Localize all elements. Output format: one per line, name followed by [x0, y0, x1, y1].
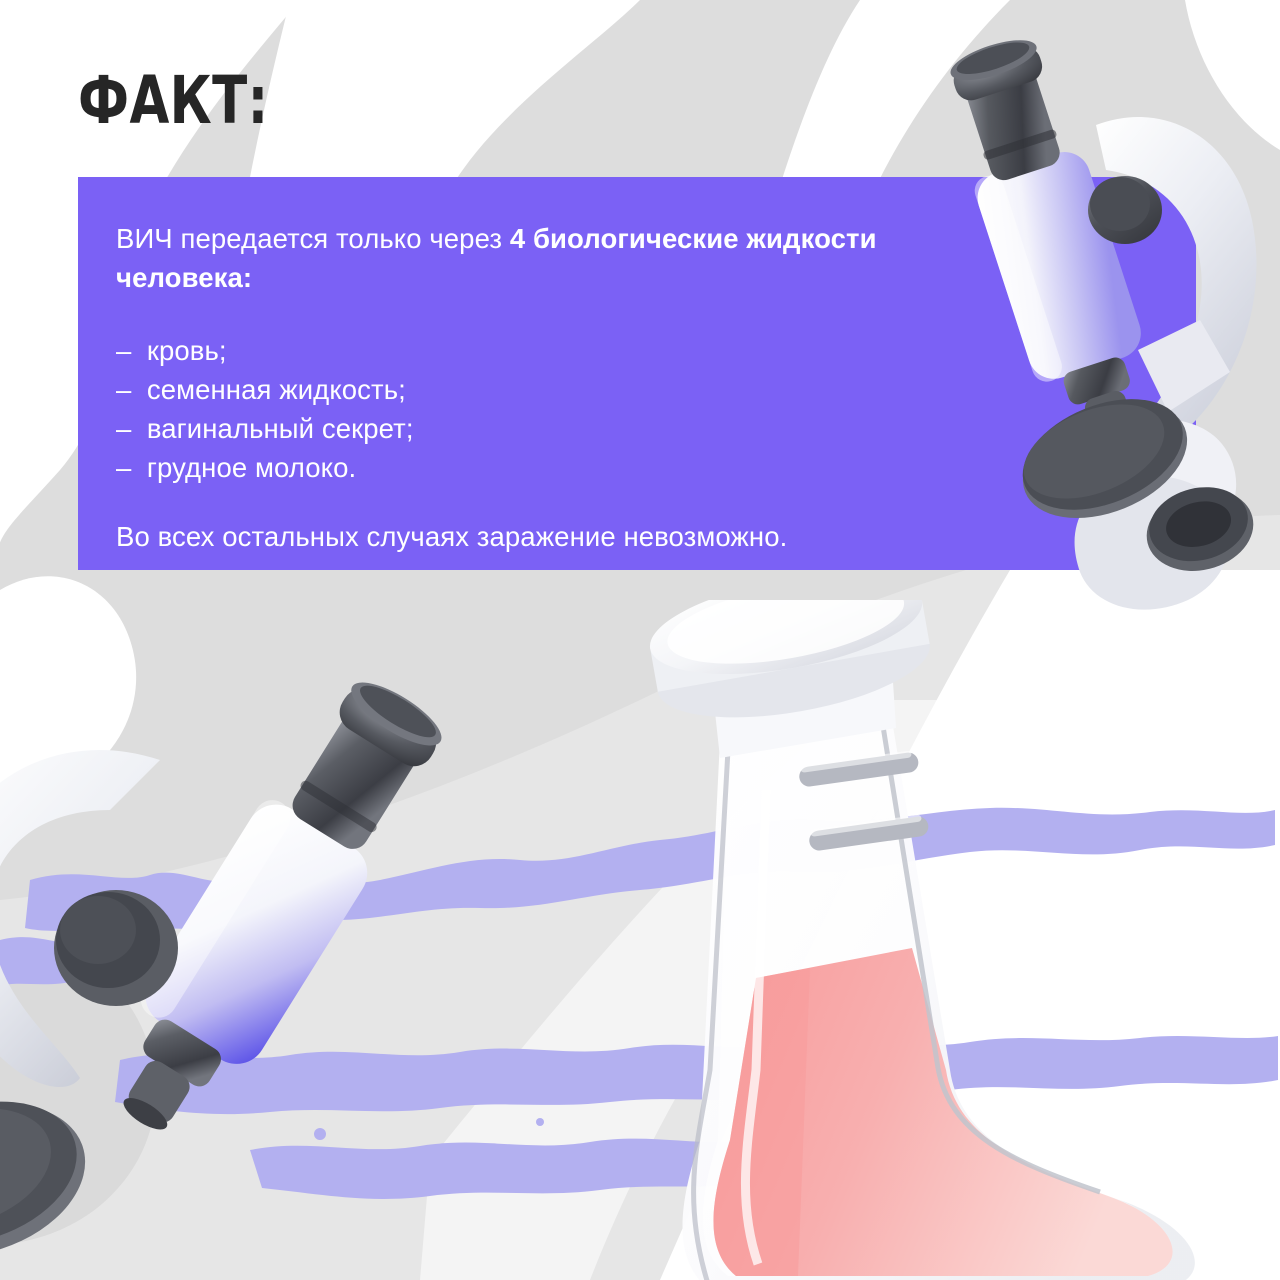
page-title: ФАКТ:: [78, 68, 269, 134]
lead-paragraph: ВИЧ передается только через 4 биологичес…: [116, 219, 1016, 297]
list-item: – семенная жидкость;: [116, 370, 1016, 409]
spacer: [116, 297, 1016, 331]
fact-panel: ВИЧ передается только через 4 биологичес…: [78, 177, 1196, 570]
poster-canvas: ФАКТ: ВИЧ передается только через 4 биол…: [0, 0, 1280, 1280]
list-item: – кровь;: [116, 331, 1016, 370]
spacer: [116, 487, 1016, 517]
list-item: – вагинальный секрет;: [116, 409, 1016, 448]
closing-statement: Во всех остальных случаях заражение нево…: [116, 517, 1016, 556]
lead-normal-text: ВИЧ передается только через: [116, 223, 510, 254]
list-item: – грудное молоко.: [116, 448, 1016, 487]
fact-panel-text: ВИЧ передается только через 4 биологичес…: [116, 219, 1016, 556]
